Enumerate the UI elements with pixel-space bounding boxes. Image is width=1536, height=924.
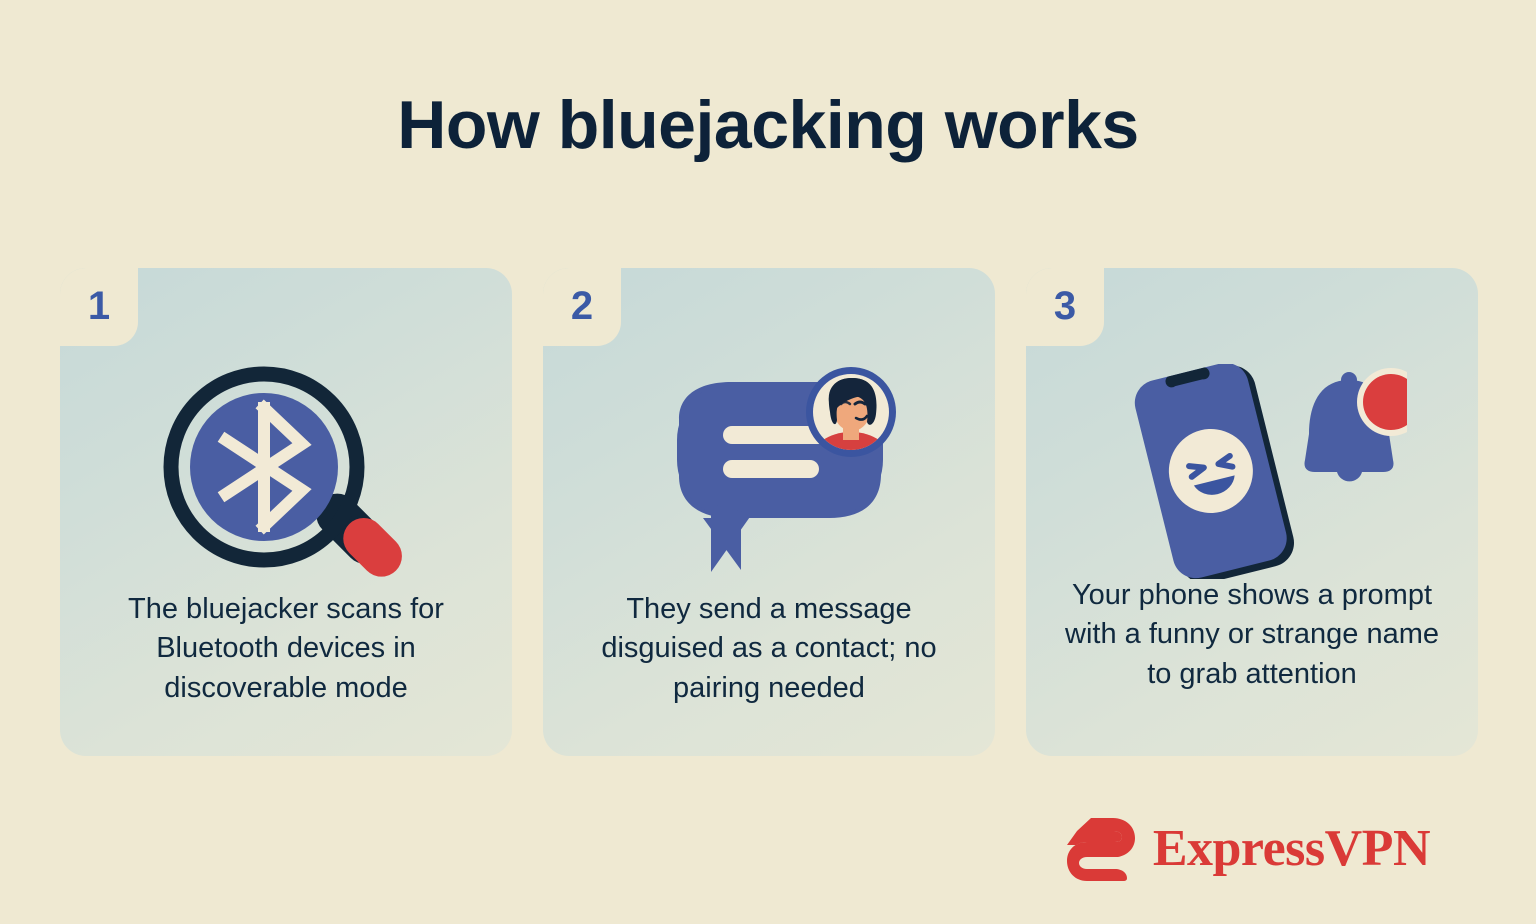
expressvpn-wordmark: ExpressVPN — [1153, 823, 1430, 875]
step-number-3: 3 — [1054, 286, 1076, 326]
step-card-3: 3 — [1026, 268, 1478, 756]
step-number-2: 2 — [571, 286, 593, 326]
step-card-2: 2 — [543, 268, 995, 756]
bluetooth-magnifier-icon — [60, 346, 512, 596]
expressvpn-e-mark-icon — [1065, 816, 1137, 882]
step-number-1: 1 — [88, 286, 110, 326]
step-card-1: 1 — [60, 268, 512, 756]
page-title: How bluejacking works — [0, 88, 1536, 163]
step-text-1: The bluejacker scans for Bluetooth devic… — [86, 590, 486, 708]
infographic-page: How bluejacking works 1 — [0, 0, 1536, 924]
step-badge-3: 3 — [1026, 268, 1104, 346]
expressvpn-logo: ExpressVPN — [1065, 816, 1430, 882]
phone-notification-bell-icon — [1026, 346, 1478, 596]
step-text-2: They send a message disguised as a conta… — [569, 590, 969, 708]
step-badge-1: 1 — [60, 268, 138, 346]
steps-container: 1 — [60, 268, 1478, 756]
step-text-3: Your phone shows a prompt with a funny o… — [1052, 576, 1452, 694]
message-bubble-contact-icon — [543, 346, 995, 596]
step-badge-2: 2 — [543, 268, 621, 346]
